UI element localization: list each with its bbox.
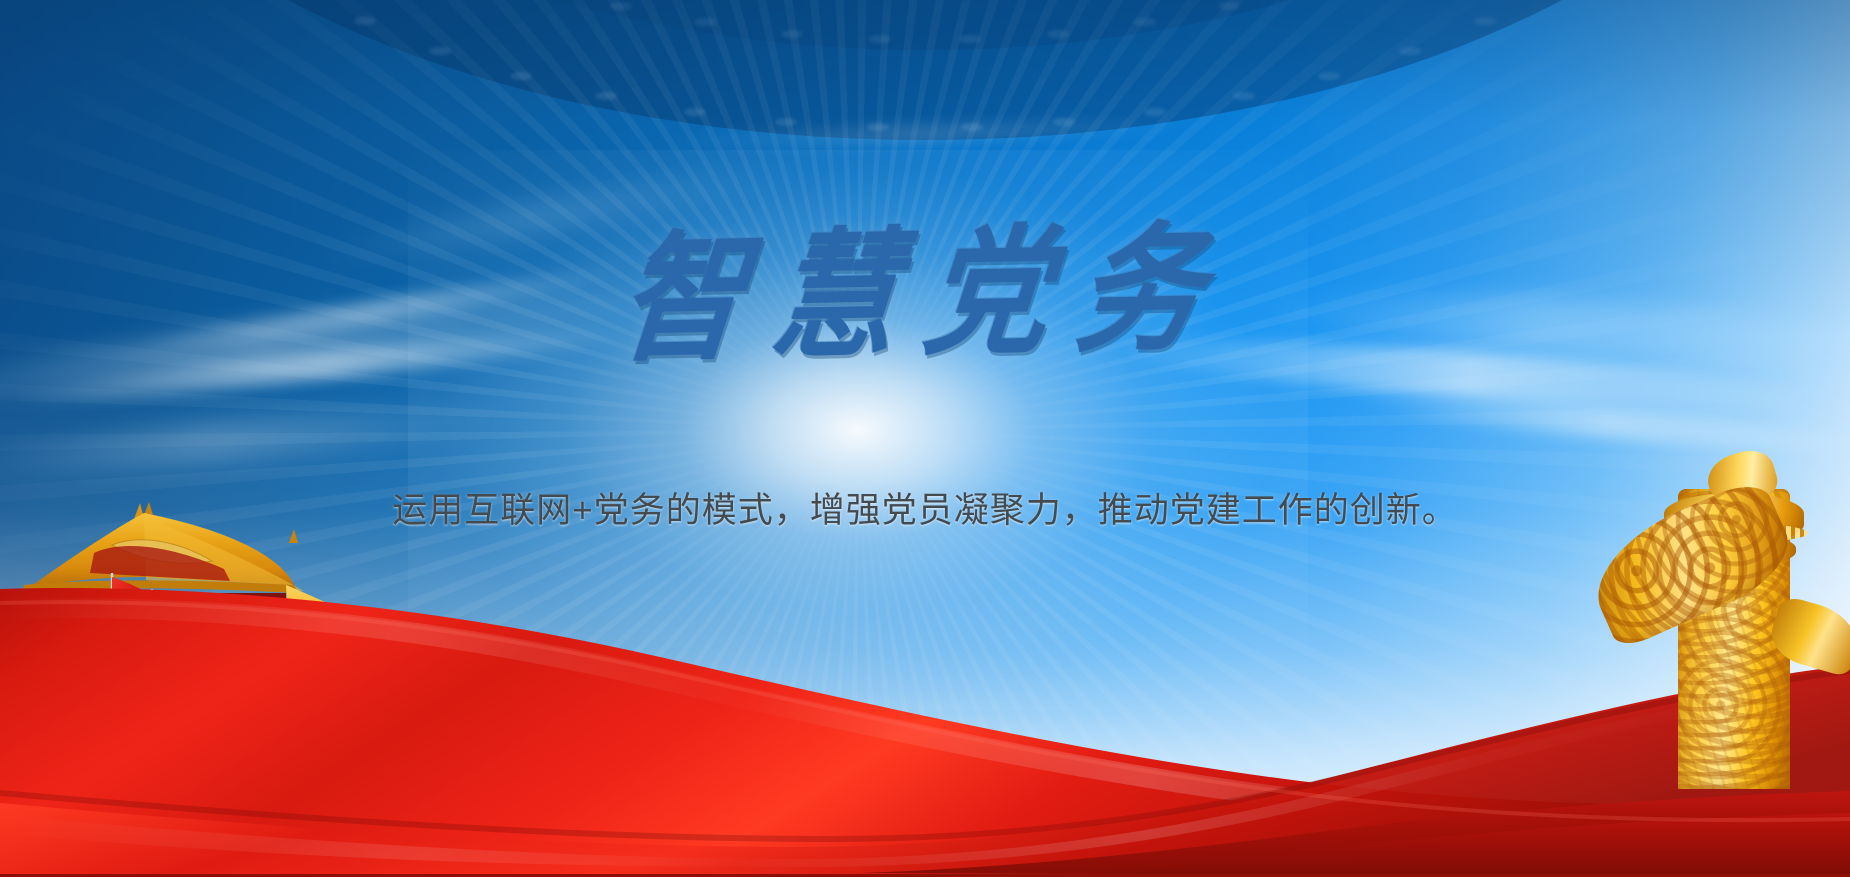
tiananmen-gate-icon (0, 481, 514, 781)
ornamental-column-icon (1592, 439, 1832, 789)
smart-party-affairs-banner: 智慧党务 运用互联网+党务的模式，增强党员凝聚力，推动党建工作的创新。 (0, 0, 1850, 877)
